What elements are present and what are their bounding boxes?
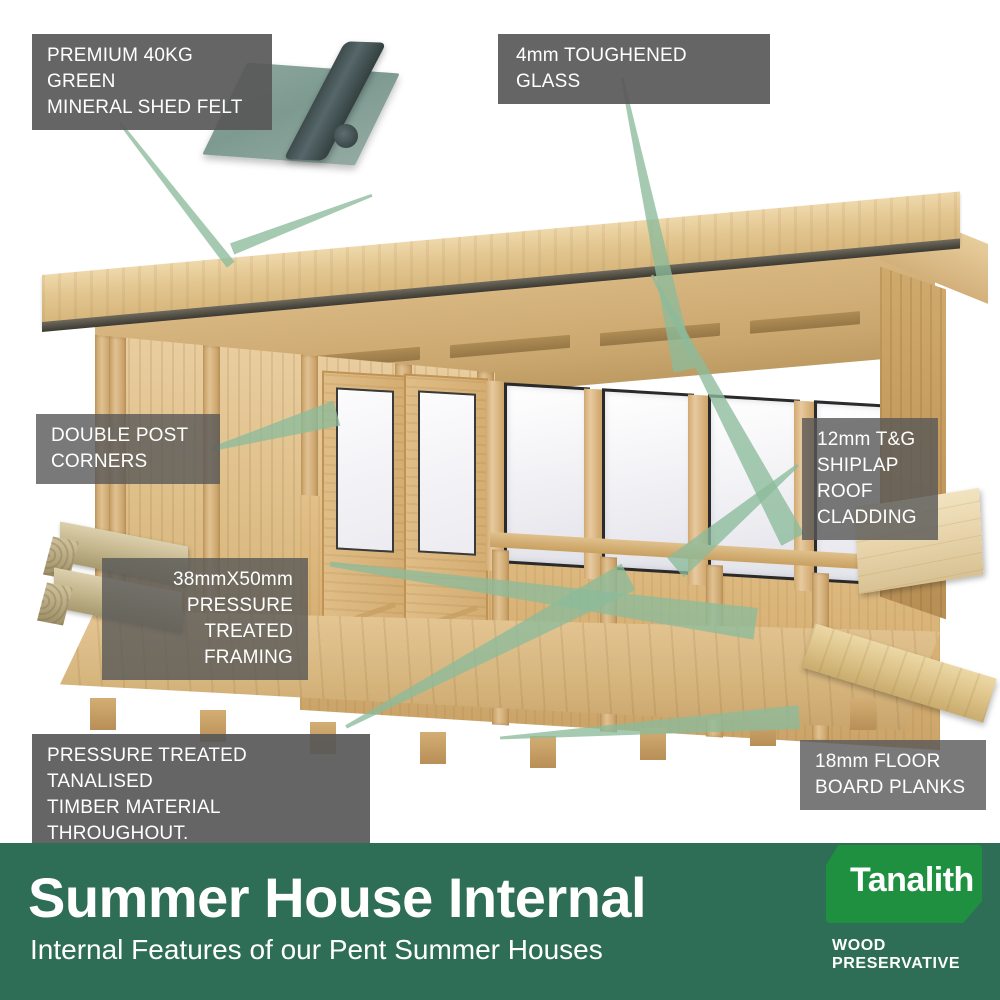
- footer-banner: Summer House Internal Internal Features …: [0, 843, 1000, 1000]
- callout-shiplap-roof-cladding: 12mm T&G SHIPLAP ROOF CLADDING: [802, 418, 938, 540]
- floor-bearer: [420, 732, 446, 764]
- page-subtitle: Internal Features of our Pent Summer Hou…: [30, 934, 603, 966]
- floor-plank-sample: [800, 636, 1000, 754]
- callout-premium-felt: PREMIUM 40KG GREEN MINERAL SHED FELT: [32, 34, 272, 130]
- door-right-glass: [418, 390, 476, 555]
- callout-double-post-corners: DOUBLE POST CORNERS: [36, 414, 220, 484]
- floor-plank-board: [801, 623, 996, 723]
- registered-trademark-icon: ®: [994, 863, 1000, 878]
- floor-bearer: [90, 698, 116, 730]
- infographic-canvas: PREMIUM 40KG GREEN MINERAL SHED FELT 4mm…: [0, 0, 1000, 1000]
- callout-floor-board-planks: 18mm FLOOR BOARD PLANKS: [800, 740, 986, 810]
- floor-bearer: [530, 736, 556, 768]
- tanalith-tagline: WOOD PRESERVATIVE: [832, 937, 984, 973]
- tanalith-wordmark: Tanalith: [850, 861, 974, 900]
- tanalith-logo: Tanalith ® WOOD PRESERVATIVE: [814, 845, 984, 975]
- timber-end-grain: [37, 582, 73, 625]
- page-title: Summer House Internal: [28, 868, 646, 928]
- callout-tanalised-timber: PRESSURE TREATED TANALISED TIMBER MATERI…: [32, 734, 370, 856]
- felt-roll-end: [334, 124, 358, 148]
- door-left-glass: [336, 387, 394, 552]
- callout-pressure-treated-framing: 38mmX50mm PRESSURE TREATED FRAMING: [102, 558, 308, 680]
- tanalith-badge-shape: Tanalith ®: [826, 845, 982, 923]
- callout-toughened-glass: 4mm TOUGHENED GLASS: [498, 34, 770, 104]
